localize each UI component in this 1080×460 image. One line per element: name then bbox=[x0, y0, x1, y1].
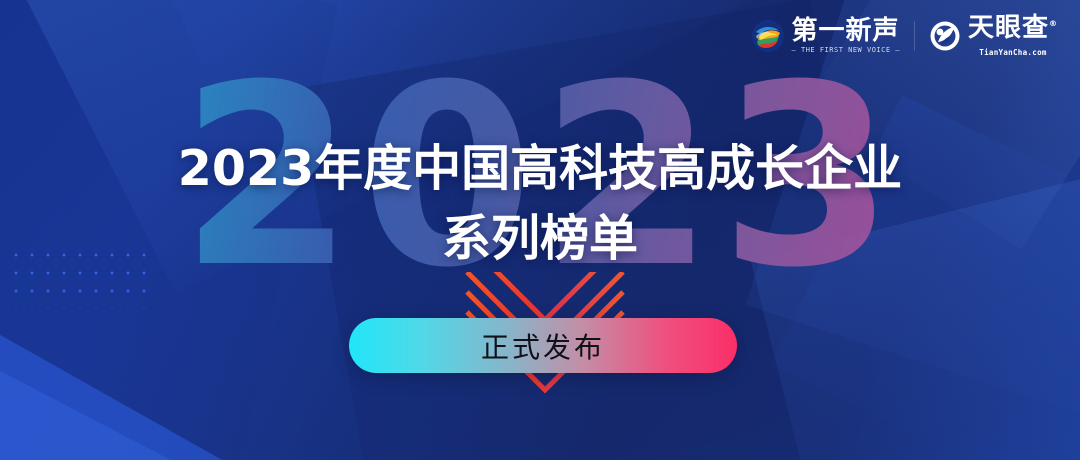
logo-tianyancha-tagline: TianYanCha.com bbox=[968, 48, 1058, 58]
background-facet-bottom-left-secondary bbox=[0, 350, 190, 460]
headline-line-2: 系列榜单 bbox=[0, 204, 1080, 274]
promo-banner: 2023 2023年度中国高科技高成长企业 系列榜单 正式发 bbox=[0, 0, 1080, 460]
logo-first-new-voice-name: 第一新声 bbox=[792, 17, 900, 45]
logo-first-new-voice[interactable]: 第一新声 — THE FIRST NEW VOICE — bbox=[751, 17, 900, 55]
logo-first-new-voice-text: 第一新声 — THE FIRST NEW VOICE — bbox=[792, 17, 900, 55]
swirl-globe-icon bbox=[751, 19, 785, 53]
eye-aperture-icon bbox=[929, 20, 961, 52]
logo-bar: 第一新声 — THE FIRST NEW VOICE — 天眼查® TianYa… bbox=[751, 14, 1058, 58]
logo-tianyancha-text: 天眼查® TianYanCha.com bbox=[968, 14, 1058, 58]
page-title: 2023年度中国高科技高成长企业 系列榜单 bbox=[0, 134, 1080, 274]
logo-tianyancha-name: 天眼查® bbox=[968, 14, 1058, 48]
release-button[interactable]: 正式发布 bbox=[349, 318, 737, 373]
registered-trademark-icon: ® bbox=[1049, 19, 1058, 28]
logo-tianyancha[interactable]: 天眼查® TianYanCha.com bbox=[929, 14, 1058, 58]
logo-tianyancha-name-cn: 天眼查 bbox=[968, 13, 1049, 43]
headline-line-1: 2023年度中国高科技高成长企业 bbox=[178, 140, 902, 197]
logo-first-new-voice-tagline: — THE FIRST NEW VOICE — bbox=[792, 45, 900, 55]
background-facet-bottom-left bbox=[0, 318, 240, 460]
logo-divider bbox=[914, 21, 915, 51]
